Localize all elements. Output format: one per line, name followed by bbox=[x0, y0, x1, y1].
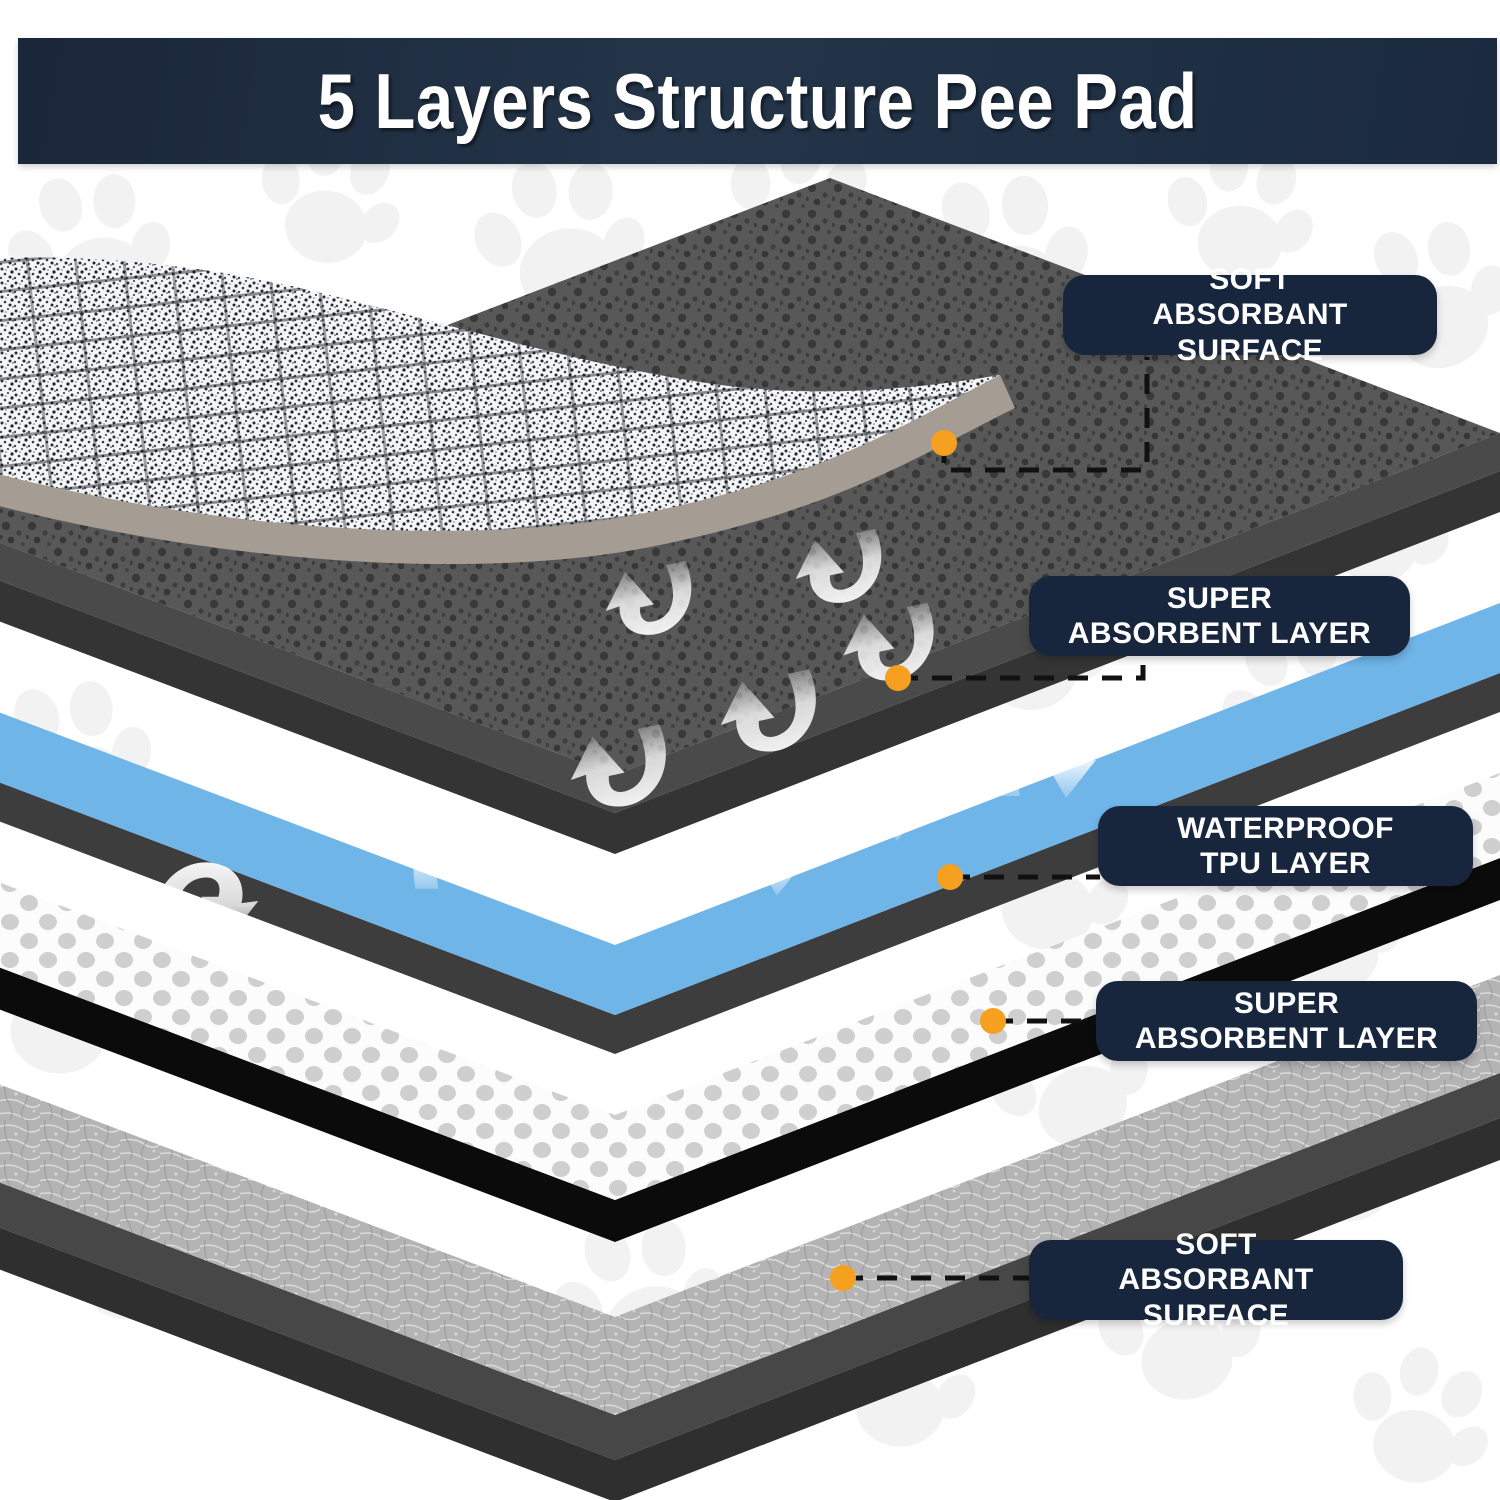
callout-soft-absorbant-surface-top[interactable]: SOFT ABSORBANT SURFACE bbox=[1063, 275, 1437, 355]
callout-label-line1: SUPER bbox=[1167, 581, 1272, 616]
title-banner: 5 Layers Structure Pee Pad bbox=[18, 38, 1497, 164]
callout-label-line1: SOFT bbox=[1175, 1227, 1257, 1262]
callout-label-line2: ABSORBANT SURFACE bbox=[1055, 1262, 1377, 1333]
callout-label-line2: ABSORBENT LAYER bbox=[1135, 1021, 1438, 1056]
callout-label-line1: SUPER bbox=[1234, 986, 1339, 1021]
callout-label-line2: TPU LAYER bbox=[1200, 846, 1371, 881]
callout-label-line1: WATERPROOF bbox=[1177, 811, 1394, 846]
callout-waterproof-tpu-layer[interactable]: WATERPROOF TPU LAYER bbox=[1098, 806, 1473, 886]
callout-label-line2: ABSORBANT SURFACE bbox=[1089, 297, 1411, 368]
callout-super-absorbent-layer-upper[interactable]: SUPER ABSORBENT LAYER bbox=[1029, 576, 1410, 656]
page-title: 5 Layers Structure Pee Pad bbox=[318, 62, 1198, 140]
callout-label-line2: ABSORBENT LAYER bbox=[1068, 616, 1371, 651]
callout-soft-absorbant-surface-bottom[interactable]: SOFT ABSORBANT SURFACE bbox=[1029, 1240, 1403, 1320]
infographic-canvas: 5 Layers Structure Pee Pad bbox=[0, 0, 1500, 1500]
callout-super-absorbent-layer-lower[interactable]: SUPER ABSORBENT LAYER bbox=[1096, 981, 1477, 1061]
callout-label-line1: SOFT bbox=[1209, 262, 1291, 297]
